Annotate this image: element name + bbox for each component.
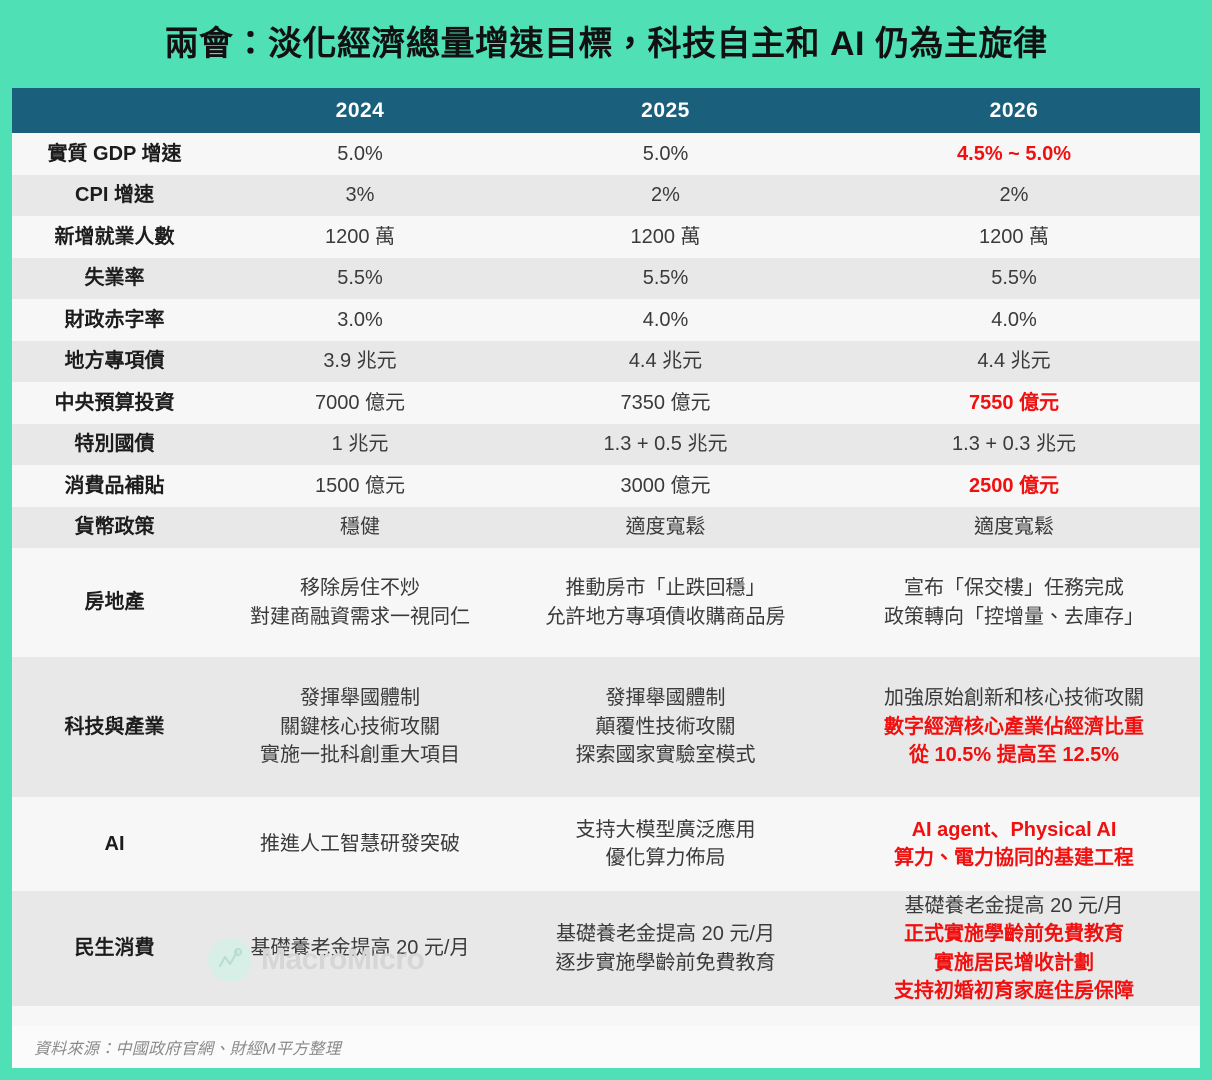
row-label: 地方專項債: [12, 347, 217, 375]
cell-line: 4.5% ~ 5.0%: [832, 140, 1196, 168]
cell-2025: 1.3 + 0.5 兆元: [503, 430, 828, 458]
row-label: 貨幣政策: [12, 513, 217, 541]
cell-line: 1500 億元: [221, 472, 499, 500]
row-label: 財政赤字率: [12, 306, 217, 334]
column-header-2024: 2024: [217, 99, 503, 123]
cell-line: 對建商融資需求一視同仁: [221, 603, 499, 631]
column-header-2026: 2026: [828, 99, 1200, 123]
row-label: 失業率: [12, 264, 217, 292]
table-row: 新增就業人數1200 萬1200 萬1200 萬: [12, 216, 1200, 258]
cell-line: 政策轉向「控增量、去庫存」: [832, 603, 1196, 631]
cell-line: 3.9 兆元: [221, 347, 499, 375]
cell-line: 1 兆元: [221, 430, 499, 458]
cell-line: 正式實施學齡前免費教育: [832, 920, 1196, 948]
cell-line: 數字經濟核心產業佔經濟比重: [832, 713, 1196, 741]
table-row: 消費品補貼1500 億元3000 億元2500 億元: [12, 465, 1200, 507]
cell-line: 1200 萬: [832, 223, 1196, 251]
cell-2026: 2%: [828, 181, 1200, 209]
row-label: 房地產: [12, 588, 217, 616]
cell-line: 4.4 兆元: [507, 347, 824, 375]
cell-2025: 7350 億元: [503, 389, 828, 417]
cell-line: 推進人工智慧研發突破: [221, 830, 499, 858]
row-label: AI: [12, 830, 217, 858]
cell-2025: 5.0%: [503, 140, 828, 168]
cell-line: 支持大模型廣泛應用: [507, 816, 824, 844]
cell-2026: 宣布「保交樓」任務完成政策轉向「控增量、去庫存」: [828, 574, 1200, 631]
cell-2026: 2500 億元: [828, 472, 1200, 500]
row-label: 消費品補貼: [12, 472, 217, 500]
cell-2026: AI agent、Physical AI算力、電力協同的基建工程: [828, 816, 1200, 873]
cell-line: 基礎養老金提高 20 元/月: [221, 934, 499, 962]
table-row: 財政赤字率3.0%4.0%4.0%: [12, 299, 1200, 341]
cell-line: 7000 億元: [221, 389, 499, 417]
cell-line: 2500 億元: [832, 472, 1196, 500]
cell-2025: 4.0%: [503, 306, 828, 334]
cell-line: 推動房市「止跌回穩」: [507, 574, 824, 602]
row-label: 民生消費: [12, 934, 217, 962]
cell-line: 7350 億元: [507, 389, 824, 417]
cell-2026: 基礎養老金提高 20 元/月正式實施學齡前免費教育實施居民增收計劃支持初婚初育家…: [828, 892, 1200, 1006]
cell-2026: 適度寬鬆: [828, 513, 1200, 541]
source-note: 資料來源：中國政府官網、財經M平方整理: [34, 1035, 341, 1059]
cell-2024: 3.0%: [217, 306, 503, 334]
cell-2025: 5.5%: [503, 264, 828, 292]
cell-line: 基礎養老金提高 20 元/月: [507, 920, 824, 948]
cell-line: 2%: [832, 181, 1196, 209]
cell-2025: 3000 億元: [503, 472, 828, 500]
cell-line: 5.5%: [832, 264, 1196, 292]
cell-line: 優化算力佈局: [507, 844, 824, 872]
cell-2026: 5.5%: [828, 264, 1200, 292]
cell-2026: 加強原始創新和核心技術攻關數字經濟核心產業佔經濟比重從 10.5% 提高至 12…: [828, 684, 1200, 769]
cell-line: 4.0%: [507, 306, 824, 334]
cell-line: 實施居民增收計劃: [832, 949, 1196, 977]
cell-line: 7550 億元: [832, 389, 1196, 417]
cell-line: 5.0%: [507, 140, 824, 168]
cell-2025: 發揮舉國體制顛覆性技術攻關探索國家實驗室模式: [503, 684, 828, 769]
cell-2026: 7550 億元: [828, 389, 1200, 417]
cell-line: 發揮舉國體制: [221, 684, 499, 712]
cell-line: 1200 萬: [507, 223, 824, 251]
cell-line: 適度寬鬆: [507, 513, 824, 541]
cell-line: 顛覆性技術攻關: [507, 713, 824, 741]
table-row: 中央預算投資7000 億元7350 億元7550 億元: [12, 382, 1200, 424]
table-row: 地方專項債3.9 兆元4.4 兆元4.4 兆元: [12, 341, 1200, 383]
table-row: 民生消費基礎養老金提高 20 元/月基礎養老金提高 20 元/月逐步實施學齡前免…: [12, 891, 1200, 1006]
cell-2024: 發揮舉國體制關鍵核心技術攻關實施一批科創重大項目: [217, 684, 503, 769]
cell-line: 移除房住不炒: [221, 574, 499, 602]
cell-2026: 1.3 + 0.3 兆元: [828, 430, 1200, 458]
cell-line: 1200 萬: [221, 223, 499, 251]
cell-line: 2%: [507, 181, 824, 209]
table-row: AI推進人工智慧研發突破支持大模型廣泛應用優化算力佈局AI agent、Phys…: [12, 797, 1200, 891]
table-header-row: 2024 2025 2026: [12, 88, 1200, 133]
cell-2025: 支持大模型廣泛應用優化算力佈局: [503, 816, 828, 873]
cell-2026: 4.5% ~ 5.0%: [828, 140, 1200, 168]
cell-2024: 3%: [217, 181, 503, 209]
cell-line: 算力、電力協同的基建工程: [832, 844, 1196, 872]
cell-2025: 基礎養老金提高 20 元/月逐步實施學齡前免費教育: [503, 920, 828, 977]
cell-line: 5.5%: [221, 264, 499, 292]
cell-2025: 適度寬鬆: [503, 513, 828, 541]
table-row: 科技與產業發揮舉國體制關鍵核心技術攻關實施一批科創重大項目發揮舉國體制顛覆性技術…: [12, 657, 1200, 797]
cell-line: 關鍵核心技術攻關: [221, 713, 499, 741]
row-label: 科技與產業: [12, 713, 217, 741]
cell-line: 穩健: [221, 513, 499, 541]
cell-line: 5.5%: [507, 264, 824, 292]
cell-line: 1.3 + 0.3 兆元: [832, 430, 1196, 458]
table-footer: 資料來源：中國政府官網、財經M平方整理: [12, 1026, 1200, 1068]
table-row: 特別國債1 兆元1.3 + 0.5 兆元1.3 + 0.3 兆元: [12, 424, 1200, 466]
infographic-page: 兩會：淡化經濟總量增速目標，科技自主和 AI 仍為主旋律 MacroMicro …: [0, 0, 1212, 1080]
cell-2024: 1200 萬: [217, 223, 503, 251]
cell-line: 實施一批科創重大項目: [221, 741, 499, 769]
cell-line: 3%: [221, 181, 499, 209]
cell-2024: 穩健: [217, 513, 503, 541]
cell-2024: 推進人工智慧研發突破: [217, 830, 503, 858]
cell-2026: 1200 萬: [828, 223, 1200, 251]
cell-line: 探索國家實驗室模式: [507, 741, 824, 769]
cell-line: 允許地方專項債收購商品房: [507, 603, 824, 631]
cell-2025: 推動房市「止跌回穩」允許地方專項債收購商品房: [503, 574, 828, 631]
cell-2024: 3.9 兆元: [217, 347, 503, 375]
cell-line: 1.3 + 0.5 兆元: [507, 430, 824, 458]
table-row: 房地產移除房住不炒對建商融資需求一視同仁推動房市「止跌回穩」允許地方專項債收購商…: [12, 548, 1200, 657]
cell-2025: 1200 萬: [503, 223, 828, 251]
cell-line: 基礎養老金提高 20 元/月: [832, 892, 1196, 920]
cell-2025: 4.4 兆元: [503, 347, 828, 375]
cell-2024: 移除房住不炒對建商融資需求一視同仁: [217, 574, 503, 631]
row-label: CPI 增速: [12, 181, 217, 209]
title-bar: 兩會：淡化經濟總量增速目標，科技自主和 AI 仍為主旋律: [0, 0, 1212, 88]
comparison-table: MacroMicro 2024 2025 2026 實質 GDP 增速5.0%5…: [12, 88, 1200, 1068]
row-label: 特別國債: [12, 430, 217, 458]
cell-line: 適度寬鬆: [832, 513, 1196, 541]
cell-line: 5.0%: [221, 140, 499, 168]
cell-line: 3000 億元: [507, 472, 824, 500]
cell-line: 宣布「保交樓」任務完成: [832, 574, 1196, 602]
row-label: 新增就業人數: [12, 223, 217, 251]
cell-2024: 1 兆元: [217, 430, 503, 458]
cell-2024: 基礎養老金提高 20 元/月: [217, 934, 503, 962]
cell-2024: 7000 億元: [217, 389, 503, 417]
cell-line: 逐步實施學齡前免費教育: [507, 949, 824, 977]
table-row: 實質 GDP 增速5.0%5.0%4.5% ~ 5.0%: [12, 133, 1200, 175]
cell-2025: 2%: [503, 181, 828, 209]
table-row: 失業率5.5%5.5%5.5%: [12, 258, 1200, 300]
cell-2026: 4.4 兆元: [828, 347, 1200, 375]
cell-line: 加強原始創新和核心技術攻關: [832, 684, 1196, 712]
cell-2024: 5.0%: [217, 140, 503, 168]
table-body: 實質 GDP 增速5.0%5.0%4.5% ~ 5.0%CPI 增速3%2%2%…: [12, 133, 1200, 1026]
page-title: 兩會：淡化經濟總量增速目標，科技自主和 AI 仍為主旋律: [165, 27, 1048, 61]
cell-2026: 4.0%: [828, 306, 1200, 334]
cell-line: 從 10.5% 提高至 12.5%: [832, 741, 1196, 769]
cell-2024: 5.5%: [217, 264, 503, 292]
cell-line: 4.0%: [832, 306, 1196, 334]
cell-line: AI agent、Physical AI: [832, 816, 1196, 844]
cell-2024: 1500 億元: [217, 472, 503, 500]
column-header-2025: 2025: [503, 99, 828, 123]
cell-line: 支持初婚初育家庭住房保障: [832, 977, 1196, 1005]
row-label: 實質 GDP 增速: [12, 140, 217, 168]
cell-line: 4.4 兆元: [832, 347, 1196, 375]
table-row: 貨幣政策穩健適度寬鬆適度寬鬆: [12, 507, 1200, 549]
cell-line: 3.0%: [221, 306, 499, 334]
table-row: CPI 增速3%2%2%: [12, 175, 1200, 217]
row-label: 中央預算投資: [12, 389, 217, 417]
cell-line: 發揮舉國體制: [507, 684, 824, 712]
